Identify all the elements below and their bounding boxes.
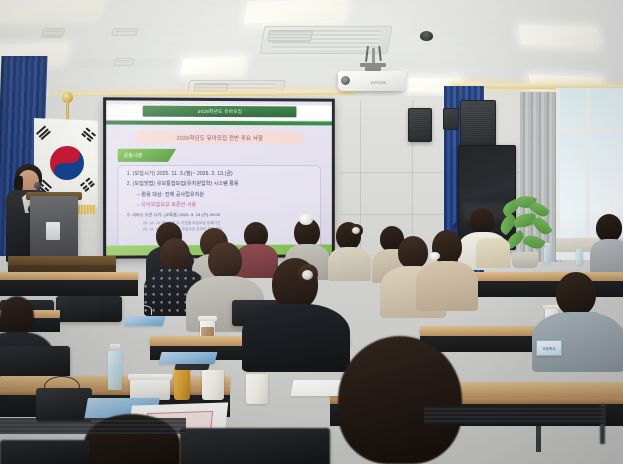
taeguk-symbol-icon (50, 146, 84, 180)
hair-accessory (299, 214, 313, 225)
person-head (596, 214, 622, 242)
plant-pot (512, 252, 538, 268)
chair[interactable] (0, 346, 70, 380)
plant-leaf (531, 214, 552, 237)
dome-camera-icon (420, 31, 433, 41)
light-panel (518, 25, 599, 48)
person-vest (476, 238, 510, 268)
juice-bottle[interactable] (174, 366, 190, 400)
ceiling-beam (0, 58, 623, 68)
person-head (0, 296, 34, 336)
water-bottle[interactable] (576, 248, 583, 265)
window-transom (556, 128, 623, 132)
slide-title-chip: 2026학년도 유아모집 (143, 106, 296, 118)
person-head (160, 238, 190, 271)
name-placard: 초등학교 (536, 340, 562, 356)
container-lid (128, 374, 172, 380)
bottle-cap (545, 243, 550, 247)
person-shoulders (328, 247, 371, 281)
slide-tag-text: 공통사항 (124, 152, 143, 159)
chair[interactable] (0, 440, 90, 464)
blue-folder[interactable] (159, 352, 218, 364)
cup-lid (198, 316, 217, 321)
chair[interactable] (56, 296, 122, 322)
light-panel (0, 0, 106, 23)
slide-heading-text: 2026학년도 유아모집 전반 주요 사항 (177, 133, 264, 141)
hair-accessory (430, 252, 440, 260)
table-row2-left (0, 272, 138, 280)
hair-accessory (352, 227, 360, 234)
podium-emblem (46, 222, 60, 240)
bottle-label (108, 364, 122, 378)
blue-folder[interactable] (125, 316, 166, 326)
projector-brand-label: EPSON (371, 80, 387, 85)
slide-line: 1. (모집시기) 2025. 11. 3.(월)~ 2026. 2. 13.(… (127, 172, 312, 178)
lunch-container[interactable] (130, 378, 170, 400)
water-bottle[interactable] (544, 246, 551, 263)
bag-strap (44, 376, 80, 398)
window-mullion (586, 88, 590, 248)
chair[interactable] (180, 428, 330, 464)
ac-grille (267, 30, 313, 42)
bottle-cap (110, 344, 120, 351)
ceiling-diffuser (113, 58, 135, 66)
placard-text: 초등학교 (543, 346, 556, 351)
projector-lens-icon (341, 76, 350, 85)
microphone-head-icon (34, 182, 41, 189)
ac-grille (193, 83, 228, 92)
wall-speaker (408, 108, 432, 142)
light-panel (180, 57, 246, 75)
slide-line: – 활용 대상: 전체 공사립유치원 (127, 192, 312, 198)
slide-heading: 2026학년도 유아모집 전반 주요 사항 (136, 131, 303, 145)
paper-cup[interactable] (246, 374, 268, 404)
window-frame (556, 88, 560, 248)
slide-line-highlight: – 유아모집요강 표준안 사용 (127, 203, 312, 209)
table-underframe (424, 406, 604, 424)
table-underframe (0, 418, 186, 434)
light-panel (244, 0, 347, 24)
stage-desk (8, 256, 116, 265)
ceiling-diffuser (111, 28, 139, 36)
person-head (208, 242, 242, 279)
paper-cup[interactable] (202, 370, 224, 400)
document-paper[interactable] (291, 380, 346, 396)
person-shoulders (416, 261, 478, 311)
person-head (398, 236, 428, 269)
ceiling-diffuser (40, 28, 66, 38)
conference-room-scene: EPSON 2026학년도 유 (0, 0, 623, 464)
person-head (556, 272, 596, 316)
person-shoulders (590, 239, 623, 273)
plant-leaf (522, 232, 545, 252)
slide-line-note: 25. 10. 13.(월) 이후 각 기관별 모집요강 등록기간 (127, 220, 312, 225)
wall-speaker-small (443, 108, 459, 130)
person-shoulders (242, 304, 350, 372)
cup-sleeve (201, 327, 214, 336)
slide-line: 2. (모집방법) 유보통합모집(유치원입학) 시스템 활용 (127, 182, 312, 188)
table-leg (536, 426, 541, 452)
person-head (338, 336, 462, 464)
person-head (470, 208, 494, 235)
slide-title-text: 2026학년도 유아모집 (198, 108, 243, 114)
table-front (0, 280, 138, 296)
slide-line-note: ※ 서비스 오픈 시기: (교육청) 2025. 9. 24.(수) 09:00 (127, 213, 312, 218)
slide-section-tag: 공통사항 (118, 149, 177, 162)
hair-accessory (302, 270, 313, 280)
tote-handle (134, 305, 152, 315)
